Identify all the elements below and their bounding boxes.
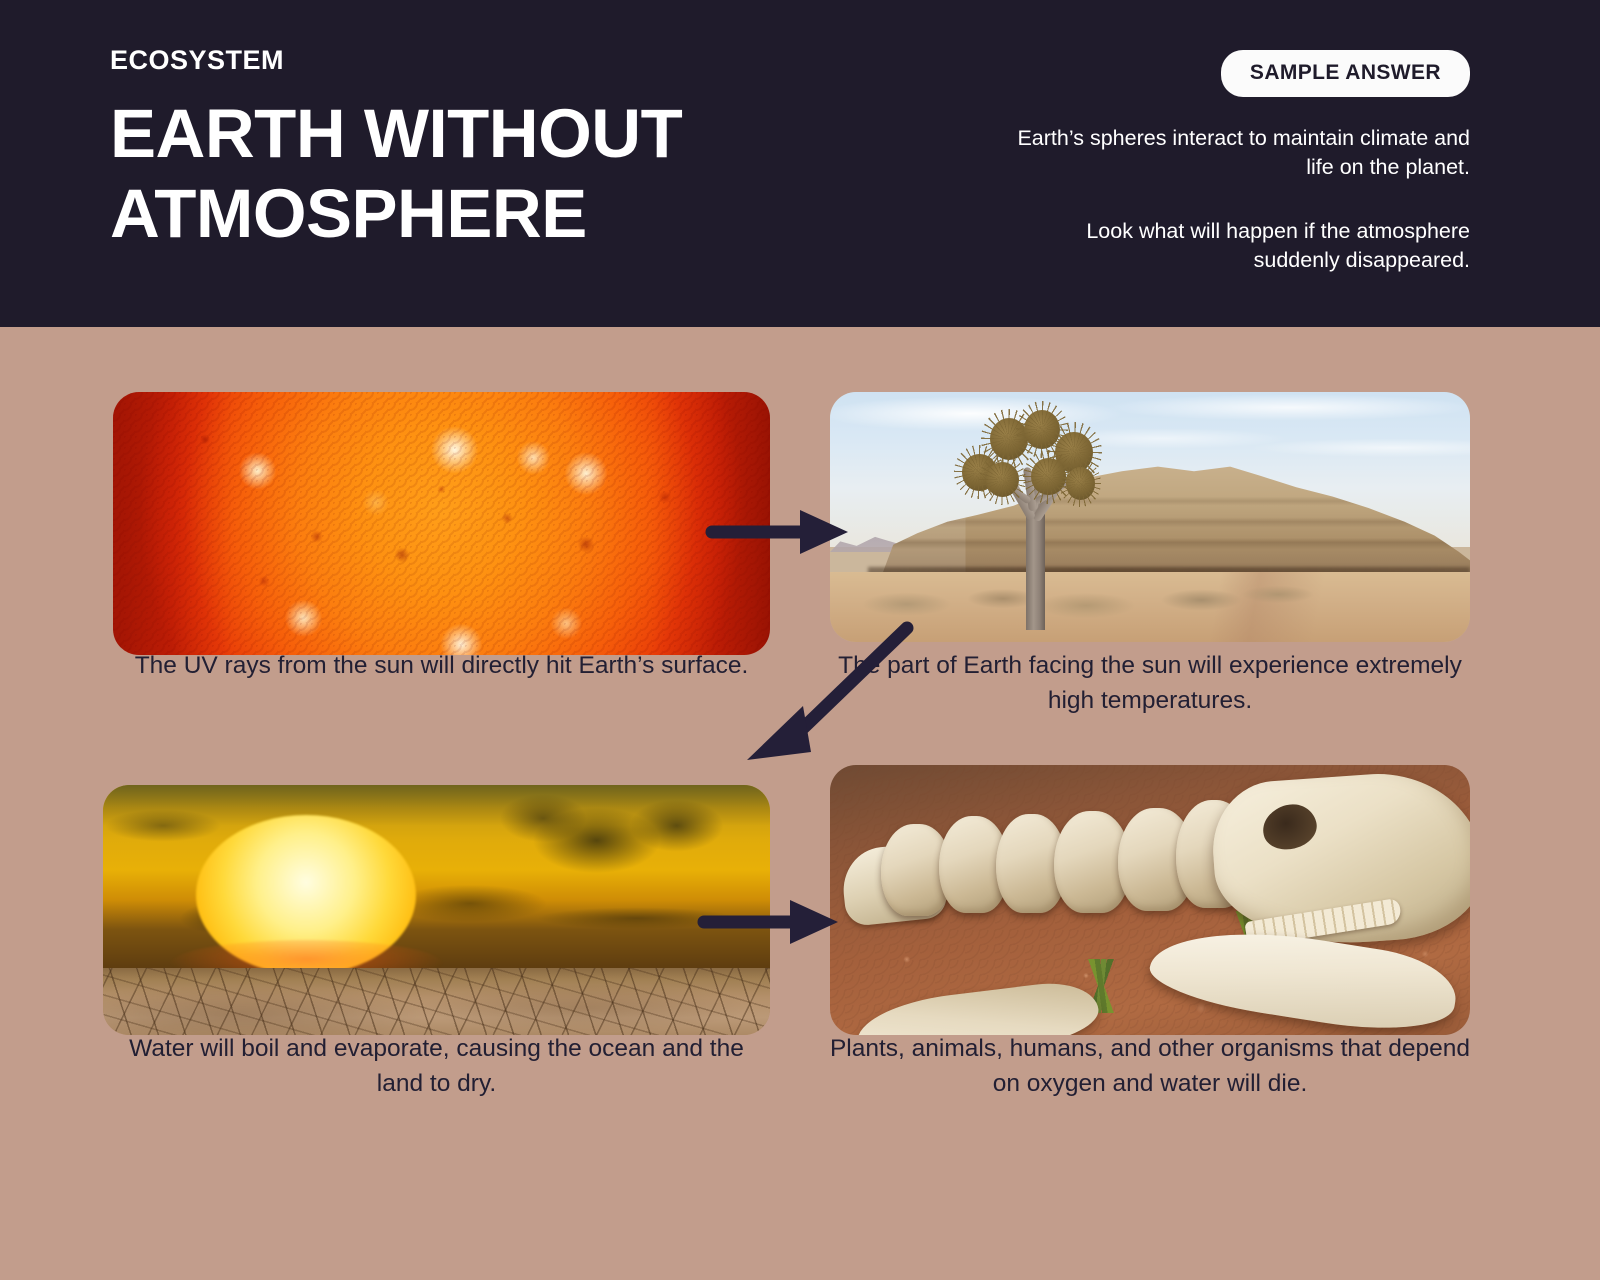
setting-sun (196, 815, 416, 975)
sun-surface-photo (113, 392, 770, 655)
tree-crown (1066, 467, 1095, 500)
quiver-tree (952, 410, 1125, 630)
caption-step-3: Water will boil and evaporate, causing t… (103, 1032, 770, 1102)
category-eyebrow: ECOSYSTEM (110, 46, 830, 76)
header-intro-block: SAMPLE ANSWER Earth’s spheres interact t… (1000, 50, 1470, 276)
flow-diagram-stage: The UV rays from the sun will directly h… (0, 327, 1600, 1280)
header-title-block: ECOSYSTEM EARTH WITHOUT ATMOSPHERE (110, 46, 830, 255)
boiling-sky-image (103, 785, 770, 1035)
boiling-sky-photo (103, 785, 770, 1035)
sun-surface-image (113, 392, 770, 655)
tree-trunk (1026, 502, 1045, 630)
sample-answer-badge: SAMPLE ANSWER (1221, 50, 1470, 97)
desert-ground (830, 572, 1470, 642)
caption-step-2: The part of Earth facing the sun will ex… (820, 649, 1480, 719)
caption-step-1: The UV rays from the sun will directly h… (113, 649, 770, 684)
page-title: EARTH WITHOUT ATMOSPHERE (110, 94, 830, 255)
cracked-earth-ground (103, 968, 770, 1036)
animal-bones-photo (830, 765, 1470, 1035)
skull-eye-socket (1258, 799, 1321, 854)
animal-bones-image (830, 765, 1470, 1035)
caption-step-4: Plants, animals, humans, and other organ… (820, 1032, 1480, 1102)
animal-skull (1208, 767, 1470, 953)
intro-paragraph-1: Earth’s spheres interact to maintain cli… (1000, 124, 1470, 183)
page-header: ECOSYSTEM EARTH WITHOUT ATMOSPHERE SAMPL… (0, 0, 1600, 327)
tree-crown (986, 462, 1019, 497)
desert-landscape-photo (830, 392, 1470, 642)
desert-landscape-image (830, 392, 1470, 642)
intro-paragraph-2: Look what will happen if the atmosphere … (1000, 217, 1470, 276)
